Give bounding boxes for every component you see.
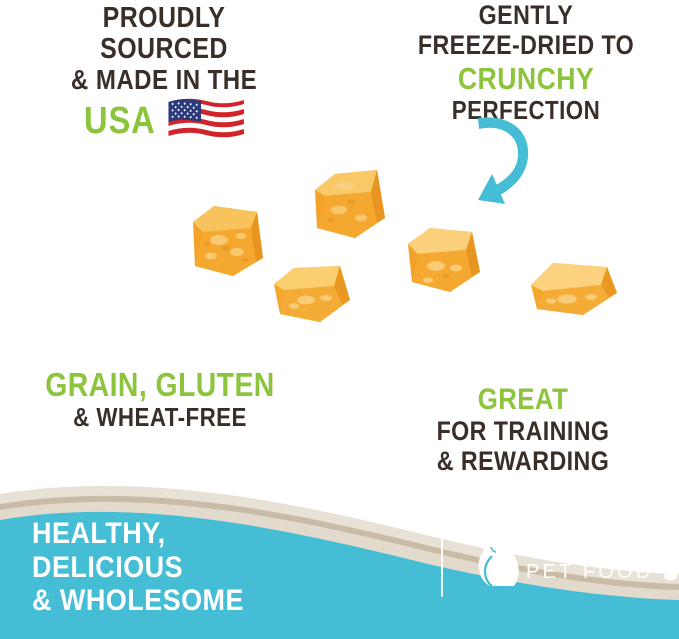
banner-tagline-line1: HEALTHY,: [32, 517, 244, 551]
banner-divider: [441, 521, 443, 597]
cheese-cube: [523, 251, 625, 323]
claim-crunchy-line1: GENTLY: [411, 2, 641, 29]
usa-flag-icon: [168, 97, 244, 143]
banner-tagline: HEALTHY, DELICIOUS & WHOLESOME: [32, 517, 244, 618]
product-feature-image: PROUDLY SOURCED & MADE IN THE USA: [0, 0, 679, 639]
claim-usa-line2: SOURCED: [52, 35, 276, 64]
claim-usa-highlight: USA: [84, 100, 156, 142]
banner-tagline-line3: & WHOLESOME: [32, 584, 244, 618]
claim-great-for-training: GREAT FOR TRAINING & REWARDING: [416, 385, 631, 475]
brand-wordmark: Raw Paws® PET FOOD: [526, 529, 656, 582]
curved-arrow-icon: [448, 112, 548, 207]
dog-and-cat-silhouette-icon: [470, 527, 528, 589]
claim-freeze-dried: GENTLY FREEZE-DRIED TO CRUNCHY PERFECTIO…: [411, 2, 641, 123]
brand-name: Raw Paws®: [526, 529, 656, 559]
claim-usa-line3: & MADE IN THE: [52, 66, 276, 94]
brand-logo: Raw Paws® PET FOOD: [470, 525, 655, 597]
claim-crunchy-line2: FREEZE-DRIED TO: [411, 32, 641, 59]
cheese-cube: [398, 218, 488, 300]
cheese-cube: [305, 162, 395, 246]
claim-grain-highlight: GRAIN, GLUTEN: [40, 368, 281, 401]
brand-subtitle: PET FOOD: [526, 561, 653, 583]
claim-usa-highlight-row: USA: [52, 97, 276, 145]
banner-tagline-line2: DELICIOUS: [32, 551, 244, 585]
claim-grain-free: GRAIN, GLUTEN & WHEAT-FREE: [40, 368, 281, 430]
brand-subtitle-row: PET FOOD: [526, 562, 656, 582]
claim-usa-line1: PROUDLY: [52, 4, 276, 33]
paw-print-icon: [660, 563, 679, 581]
claim-training-highlight: GREAT: [416, 385, 631, 415]
cheese-cube: [181, 196, 277, 284]
cheese-cube: [266, 254, 358, 330]
claim-made-in-usa: PROUDLY SOURCED & MADE IN THE USA: [52, 4, 276, 145]
banner-content: HEALTHY, DELICIOUS & WHOLESOME Raw Paws®: [0, 499, 679, 639]
claim-training-line2: FOR TRAINING: [416, 418, 631, 445]
claim-crunchy-highlight: CRUNCHY: [411, 63, 641, 94]
claim-grain-line2: & WHEAT-FREE: [40, 404, 281, 430]
